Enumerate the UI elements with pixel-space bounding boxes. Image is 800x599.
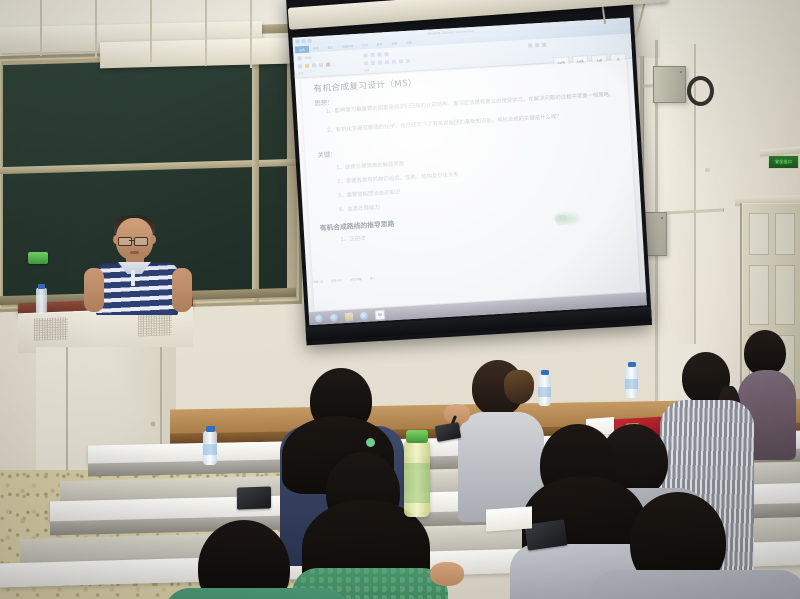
ribbon-group-font-row[interactable] xyxy=(298,63,330,69)
tab-insert[interactable]: 插入 xyxy=(328,45,334,49)
align-left-icon[interactable] xyxy=(364,61,368,65)
bottle-label xyxy=(625,379,638,389)
align-right-icon[interactable] xyxy=(378,60,382,64)
tab-references[interactable]: 引用 xyxy=(362,43,368,47)
hanger-wire xyxy=(40,0,42,56)
eyeglasses-icon xyxy=(134,237,148,246)
ribbon-group-label: 剪贴板 xyxy=(304,56,311,60)
eyeglasses-bridge xyxy=(129,240,135,241)
coiled-cable xyxy=(687,76,714,106)
browser-icon[interactable] xyxy=(330,313,338,321)
highlight-icon[interactable] xyxy=(305,64,309,68)
replace-icon[interactable] xyxy=(535,43,539,47)
lectern-seam xyxy=(66,347,68,475)
exit-sign-label: 安全出口 xyxy=(775,159,792,165)
section-item: 4、信息迁移能力 xyxy=(338,203,380,213)
bullet-list-icon[interactable] xyxy=(363,53,367,57)
indent-icon[interactable] xyxy=(384,52,388,56)
water-bottle[interactable] xyxy=(625,367,638,398)
section-item: 1、正逆法 xyxy=(340,234,365,243)
underline-icon[interactable] xyxy=(319,63,323,67)
ribbon-group-label: 字体 xyxy=(298,71,303,75)
green-tea-tumbler[interactable] xyxy=(404,441,430,517)
hair-clip xyxy=(366,438,375,447)
tumbler-cap xyxy=(406,430,428,443)
tab-mailings[interactable]: 邮件 xyxy=(377,42,383,46)
hanger-wire xyxy=(150,0,152,62)
ribbon-group-label: 段落 xyxy=(364,68,369,72)
section-item: 1、选择合理简单的解题思路 xyxy=(336,159,404,171)
word-application-window: 有机合成复习设计(MS) - Microsoft Word 文件 开始 插入 页… xyxy=(292,18,646,326)
numbered-list-icon[interactable] xyxy=(370,53,374,57)
hanger-wire xyxy=(205,0,207,66)
tab-review[interactable]: 审阅 xyxy=(391,41,397,45)
shading-icon[interactable] xyxy=(399,59,403,63)
borders-icon[interactable] xyxy=(406,59,410,63)
tab-home[interactable]: 开始 xyxy=(313,46,319,50)
multilevel-list-icon[interactable] xyxy=(377,52,381,56)
redo-icon[interactable] xyxy=(307,38,311,42)
document-title: 有机合成复习设计（MS） xyxy=(313,76,417,94)
section-item: 2、掌握各类有机物的组成、性质、结构及衍生关系 xyxy=(337,170,459,185)
speaker-grille xyxy=(34,317,68,340)
hanger-wire xyxy=(95,0,97,58)
status-words: 字数: 612 xyxy=(331,278,342,283)
classroom-photo: 安全出口 有机合成复习设计(MS) - Microsoft Word xyxy=(0,0,800,599)
projected-image: 有机合成复习设计(MS) - Microsoft Word 文件 开始 插入 页… xyxy=(292,18,646,326)
section-item: 2、有机化学是官能团的化学，在已经学习了有关官能团的基础知识后，有机合成的关键是… xyxy=(327,111,617,136)
ribbon-group-paragraph[interactable]: 段落 xyxy=(364,68,369,72)
mouth xyxy=(130,251,139,254)
browser-icon[interactable] xyxy=(360,311,368,319)
save-icon[interactable] xyxy=(295,39,299,43)
browser-icon[interactable] xyxy=(315,314,323,322)
paper-sheet[interactable] xyxy=(486,506,532,531)
arm xyxy=(172,268,192,312)
lectern-lock[interactable] xyxy=(151,422,155,426)
chalk-eraser[interactable] xyxy=(28,252,48,264)
section-heading-route: 有机合成路线的推导思路 xyxy=(319,218,394,232)
eyeglasses-icon xyxy=(118,237,132,246)
hanger-wire xyxy=(250,0,252,68)
paste-icon[interactable] xyxy=(297,56,301,60)
folder-icon[interactable] xyxy=(345,312,353,320)
arm xyxy=(84,268,104,312)
bottle-cap xyxy=(206,426,215,432)
italic-icon[interactable] xyxy=(312,63,316,67)
ribbon-group-paragraph-row2[interactable] xyxy=(364,59,410,66)
document-page[interactable]: 有机合成复习设计（MS） 思想： 1、影响复习最重要的因素是同学们已有的认知结构… xyxy=(301,60,640,311)
ribbon-group-editing-row[interactable] xyxy=(528,43,546,48)
watermark-label: WPS xyxy=(557,214,566,220)
hand xyxy=(444,404,470,424)
quick-access-toolbar[interactable] xyxy=(295,38,311,43)
speaker-grille xyxy=(138,313,172,336)
ribbon-group-font[interactable]: 字体 xyxy=(298,71,303,75)
blackboard-sliding-panel[interactable] xyxy=(100,38,290,69)
bottle-label xyxy=(203,444,217,455)
ribbon-group-clipboard[interactable]: 剪贴板 xyxy=(297,56,311,61)
font-color-icon[interactable] xyxy=(326,63,330,67)
section-heading-key: 关键： xyxy=(317,149,337,159)
tab-page-layout[interactable]: 页面布局 xyxy=(342,44,353,49)
align-center-icon[interactable] xyxy=(371,61,375,65)
window-title: 有机合成复习设计(MS) - Microsoft Word xyxy=(427,29,473,36)
water-bottle[interactable] xyxy=(538,375,551,406)
status-page: 页面: 1/3 xyxy=(313,279,323,284)
line-spacing-icon[interactable] xyxy=(392,60,396,64)
shirt-placket xyxy=(131,270,135,286)
lecturer xyxy=(82,218,192,313)
black-pouch[interactable] xyxy=(237,486,271,509)
bottle-label xyxy=(538,387,551,397)
torso xyxy=(590,570,800,599)
water-bottle[interactable] xyxy=(203,431,217,465)
status-mode: 插入 xyxy=(370,276,375,280)
tab-view[interactable]: 视图 xyxy=(406,41,412,45)
justify-icon[interactable] xyxy=(385,60,389,64)
wall-scuff xyxy=(705,168,710,172)
bottle-cap xyxy=(628,362,636,367)
exit-sign: 安全出口 xyxy=(768,155,799,169)
hair-bun xyxy=(504,370,534,404)
projection-screen: 有机合成复习设计(MS) - Microsoft Word 文件 开始 插入 页… xyxy=(286,0,652,345)
blackboard-divider xyxy=(252,52,259,302)
water-bottle[interactable] xyxy=(36,288,47,314)
bottle-cap xyxy=(541,370,549,375)
bold-icon[interactable] xyxy=(298,64,302,68)
section-item: 3、重要官能团消去的知识 xyxy=(338,188,401,200)
ear xyxy=(150,235,156,244)
torso xyxy=(164,588,350,599)
select-icon[interactable] xyxy=(542,43,546,47)
undo-icon[interactable] xyxy=(301,38,305,42)
wps-icon[interactable]: W xyxy=(375,309,386,320)
hand xyxy=(430,562,464,586)
section-heading-thoughts: 思想： xyxy=(314,97,334,107)
find-icon[interactable] xyxy=(528,43,532,47)
tumbler-label xyxy=(404,463,430,503)
ribbon-group-paragraph-row1[interactable] xyxy=(363,52,388,57)
status-language: 中文(中国) xyxy=(350,277,362,282)
electrical-box xyxy=(653,66,686,103)
